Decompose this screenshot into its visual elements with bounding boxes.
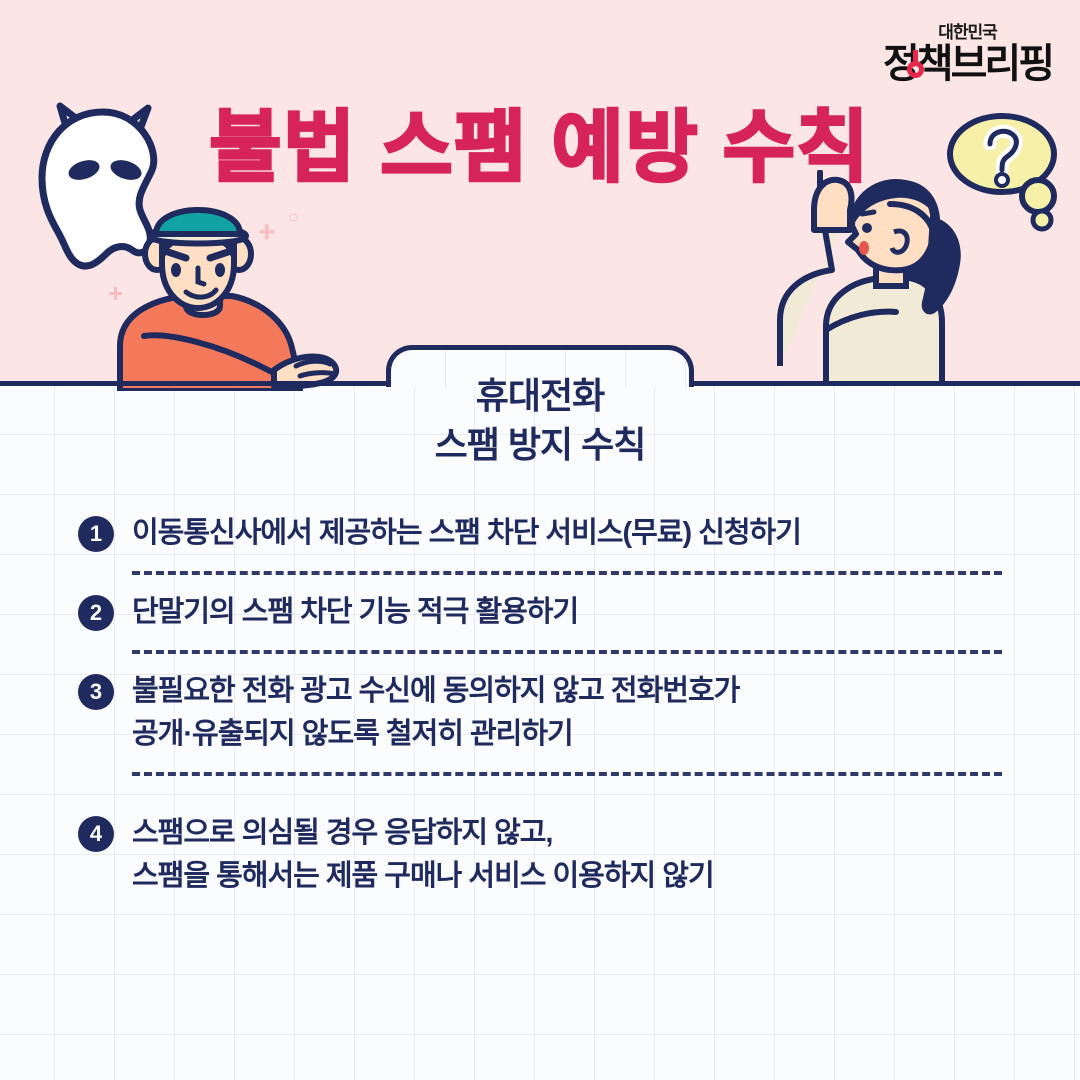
list-item-text: 스팸으로 의심될 경우 응답하지 않고, 스팸을 통해서는 제품 구매나 서비스… bbox=[132, 812, 714, 898]
page-title: 불법 스팸 예방 수칙 bbox=[0, 108, 1080, 186]
sparkle-plus-icon: + bbox=[258, 218, 276, 248]
section-heading: 휴대전화 스팸 방지 수칙 bbox=[0, 372, 1080, 469]
sparkle-circle-icon: ○ bbox=[288, 208, 299, 226]
list-item-number-badge: 4 bbox=[78, 816, 114, 852]
list-item-number-badge: 3 bbox=[78, 674, 114, 710]
list-item-number-badge: 2 bbox=[78, 595, 114, 631]
infographic-card: + ○ + 대한민국 정책브리핑 불법 스팸 예방 수칙 휴대전화 스팸 방지 … bbox=[0, 0, 1080, 1080]
section-heading-line1: 휴대전화 bbox=[0, 372, 1080, 421]
list-item-text: 이동통신사에서 제공하는 스팸 차단 서비스(무료) 신청하기 bbox=[132, 512, 801, 555]
list-item: 1 이동통신사에서 제공하는 스팸 차단 서비스(무료) 신청하기 bbox=[0, 512, 1080, 555]
list-divider bbox=[132, 571, 1002, 575]
list-item-text: 단말기의 스팸 차단 기능 적극 활용하기 bbox=[132, 591, 578, 634]
sparkle-plus-icon-2: + bbox=[108, 280, 123, 306]
section-heading-line2: 스팸 방지 수칙 bbox=[0, 421, 1080, 470]
logo-wordmark: 정책브리핑 bbox=[883, 44, 1052, 84]
list-item-number-badge: 1 bbox=[78, 516, 114, 552]
tips-list: 1 이동통신사에서 제공하는 스팸 차단 서비스(무료) 신청하기 2 단말기의… bbox=[0, 512, 1080, 897]
list-item: 2 단말기의 스팸 차단 기능 적극 활용하기 bbox=[0, 591, 1080, 634]
list-item: 4 스팸으로 의심될 경우 응답하지 않고, 스팸을 통해서는 제품 구매나 서… bbox=[0, 812, 1080, 898]
logo-subtitle: 대한민국 bbox=[883, 24, 1052, 41]
list-item-text: 불필요한 전화 광고 수신에 동의하지 않고 전화번호가 공개·유출되지 않도록… bbox=[132, 670, 739, 756]
logo-accent-stem-icon bbox=[913, 50, 918, 66]
list-divider bbox=[132, 772, 1002, 776]
list-item: 3 불필요한 전화 광고 수신에 동의하지 않고 전화번호가 공개·유출되지 않… bbox=[0, 670, 1080, 756]
list-spacer bbox=[0, 792, 1080, 812]
list-divider bbox=[132, 650, 1002, 654]
policy-briefing-logo[interactable]: 대한민국 정책브리핑 bbox=[883, 24, 1052, 84]
